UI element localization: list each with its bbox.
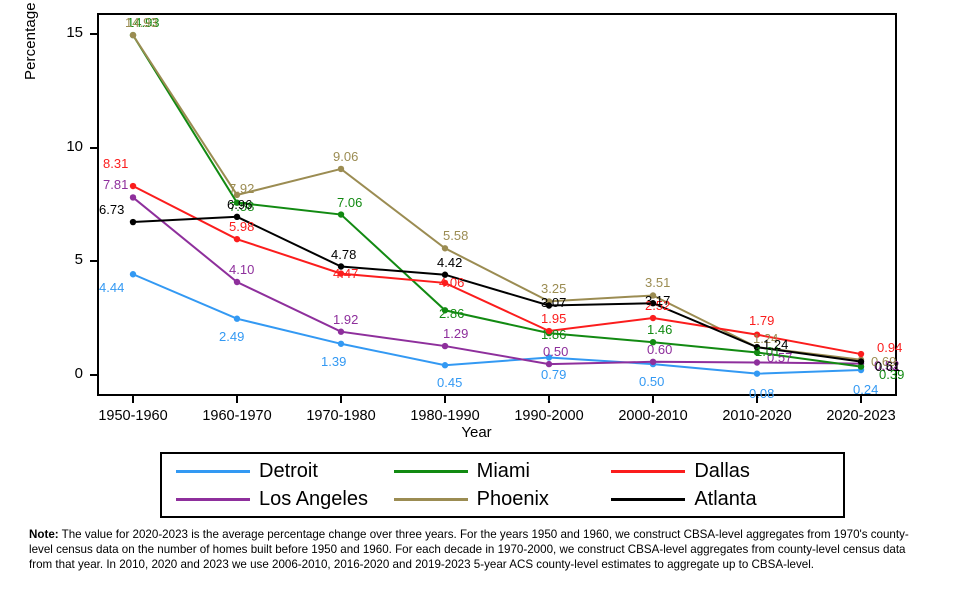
point-value-label: 0.61 [875, 359, 900, 374]
point-value-label: 7.06 [337, 195, 362, 210]
legend-color-swatch [394, 470, 468, 473]
data-point [858, 351, 864, 357]
legend-color-swatch [611, 470, 685, 473]
data-point [754, 359, 760, 365]
point-value-label: 1.39 [321, 354, 346, 369]
y-tick-mark [90, 147, 97, 149]
data-point [234, 279, 240, 285]
point-value-label: 0.08 [749, 386, 774, 401]
data-point [650, 359, 656, 365]
point-value-label: 4.78 [331, 247, 356, 262]
data-point [130, 194, 136, 200]
point-value-label: 7.81 [103, 177, 128, 192]
chart-legend: DetroitMiamiDallasLos AngelesPhoenixAtla… [160, 452, 845, 518]
point-value-label: 4.10 [229, 262, 254, 277]
point-value-label: 4.06 [439, 275, 464, 290]
x-tick-label: 1950-1960 [78, 408, 188, 424]
data-point [234, 316, 240, 322]
y-tick-mark [90, 374, 97, 376]
data-point [442, 343, 448, 349]
data-point [442, 245, 448, 251]
legend-label: Dallas [694, 460, 750, 483]
point-value-label: 1.86 [541, 327, 566, 342]
point-value-label: 1.46 [647, 322, 672, 337]
x-tick-mark [236, 396, 238, 403]
note-text: The value for 2020-2023 is the average p… [29, 528, 909, 571]
y-axis-label-text: Percentage change (1.00 = 1%) [22, 0, 39, 80]
point-value-label: 14.93 [125, 15, 158, 30]
legend-item-detroit[interactable]: Detroit [176, 460, 394, 483]
y-tick-label: 0 [49, 365, 83, 382]
legend-color-swatch [176, 470, 250, 473]
point-value-label: 9.06 [333, 149, 358, 164]
x-tick-label: 1990-2000 [494, 408, 604, 424]
point-value-label: 4.44 [99, 280, 124, 295]
point-value-label: 7.92 [229, 181, 254, 196]
y-axis-label: Percentage change (1.00 = 1%) [22, 0, 39, 80]
x-tick-mark [444, 396, 446, 403]
point-value-label: 6.96 [227, 197, 252, 212]
legend-color-swatch [394, 498, 468, 501]
y-tick-label: 10 [49, 138, 83, 155]
point-value-label: 0.24 [853, 382, 878, 397]
x-tick-mark [132, 396, 134, 403]
data-point [858, 358, 864, 364]
point-value-label: 1.29 [443, 326, 468, 341]
y-tick-label: 5 [49, 251, 83, 268]
chart-page: Percentage change (1.00 = 1%) 051015 4.4… [0, 0, 953, 598]
point-value-label: 0.50 [543, 344, 568, 359]
legend-color-swatch [611, 498, 685, 501]
x-tick-mark [340, 396, 342, 403]
point-value-label: 4.42 [437, 255, 462, 270]
data-point [338, 211, 344, 217]
note-prefix: Note: [29, 528, 59, 541]
point-value-label: 5.58 [443, 228, 468, 243]
point-value-label: 3.17 [645, 293, 670, 308]
legend-label: Detroit [259, 460, 318, 483]
x-tick-mark [652, 396, 654, 403]
legend-item-miami[interactable]: Miami [394, 460, 612, 483]
legend-label: Miami [477, 460, 530, 483]
data-point [130, 271, 136, 277]
point-value-label: 0.45 [437, 375, 462, 390]
x-tick-label: 1980-1990 [390, 408, 500, 424]
point-value-label: 1.95 [541, 311, 566, 326]
figure-note: Note: The value for 2020-2023 is the ave… [29, 528, 929, 572]
legend-label: Atlanta [694, 488, 756, 511]
x-tick-label: 1970-1980 [286, 408, 396, 424]
point-value-label: 3.51 [645, 275, 670, 290]
data-point [338, 166, 344, 172]
point-value-label: 2.86 [439, 306, 464, 321]
legend-label: Los Angeles [259, 488, 368, 511]
point-value-label: 0.50 [639, 374, 664, 389]
x-tick-label: 2000-2010 [598, 408, 708, 424]
legend-item-atlanta[interactable]: Atlanta [611, 488, 829, 511]
x-tick-mark [860, 396, 862, 403]
x-tick-label: 2010-2020 [702, 408, 812, 424]
x-tick-mark [756, 396, 758, 403]
y-tick-label: 15 [49, 24, 83, 41]
legend-label: Phoenix [477, 488, 549, 511]
legend-color-swatch [176, 498, 250, 501]
data-point [130, 32, 136, 38]
point-value-label: 1.79 [749, 313, 774, 328]
point-value-label: 1.92 [333, 312, 358, 327]
point-value-label: 1.24 [763, 337, 788, 352]
data-point [650, 315, 656, 321]
point-value-label: 8.31 [103, 156, 128, 171]
data-point [234, 236, 240, 242]
data-point [338, 329, 344, 335]
point-value-label: 5.98 [229, 219, 254, 234]
y-tick-mark [90, 33, 97, 35]
point-value-label: 0.94 [877, 340, 902, 355]
x-tick-label: 1960-1970 [182, 408, 292, 424]
line-chart: Percentage change (1.00 = 1%) 051015 4.4… [0, 0, 953, 448]
legend-item-los-angeles[interactable]: Los Angeles [176, 488, 394, 511]
data-point [546, 361, 552, 367]
data-point [130, 183, 136, 189]
data-point [338, 341, 344, 347]
legend-item-phoenix[interactable]: Phoenix [394, 488, 612, 511]
point-value-label: 4.47 [333, 266, 358, 281]
point-value-label: 0.79 [541, 367, 566, 382]
x-tick-mark [548, 396, 550, 403]
point-value-label: 3.07 [541, 295, 566, 310]
x-axis-label: Year [0, 424, 953, 441]
point-value-label: 3.25 [541, 281, 566, 296]
data-point [442, 362, 448, 368]
point-value-label: 6.73 [99, 202, 124, 217]
point-value-label: 2.49 [219, 329, 244, 344]
data-point [130, 219, 136, 225]
y-tick-mark [90, 260, 97, 262]
data-point [754, 370, 760, 376]
x-tick-label: 2020-2023 [806, 408, 916, 424]
point-value-label: 0.60 [647, 342, 672, 357]
legend-item-dallas[interactable]: Dallas [611, 460, 829, 483]
